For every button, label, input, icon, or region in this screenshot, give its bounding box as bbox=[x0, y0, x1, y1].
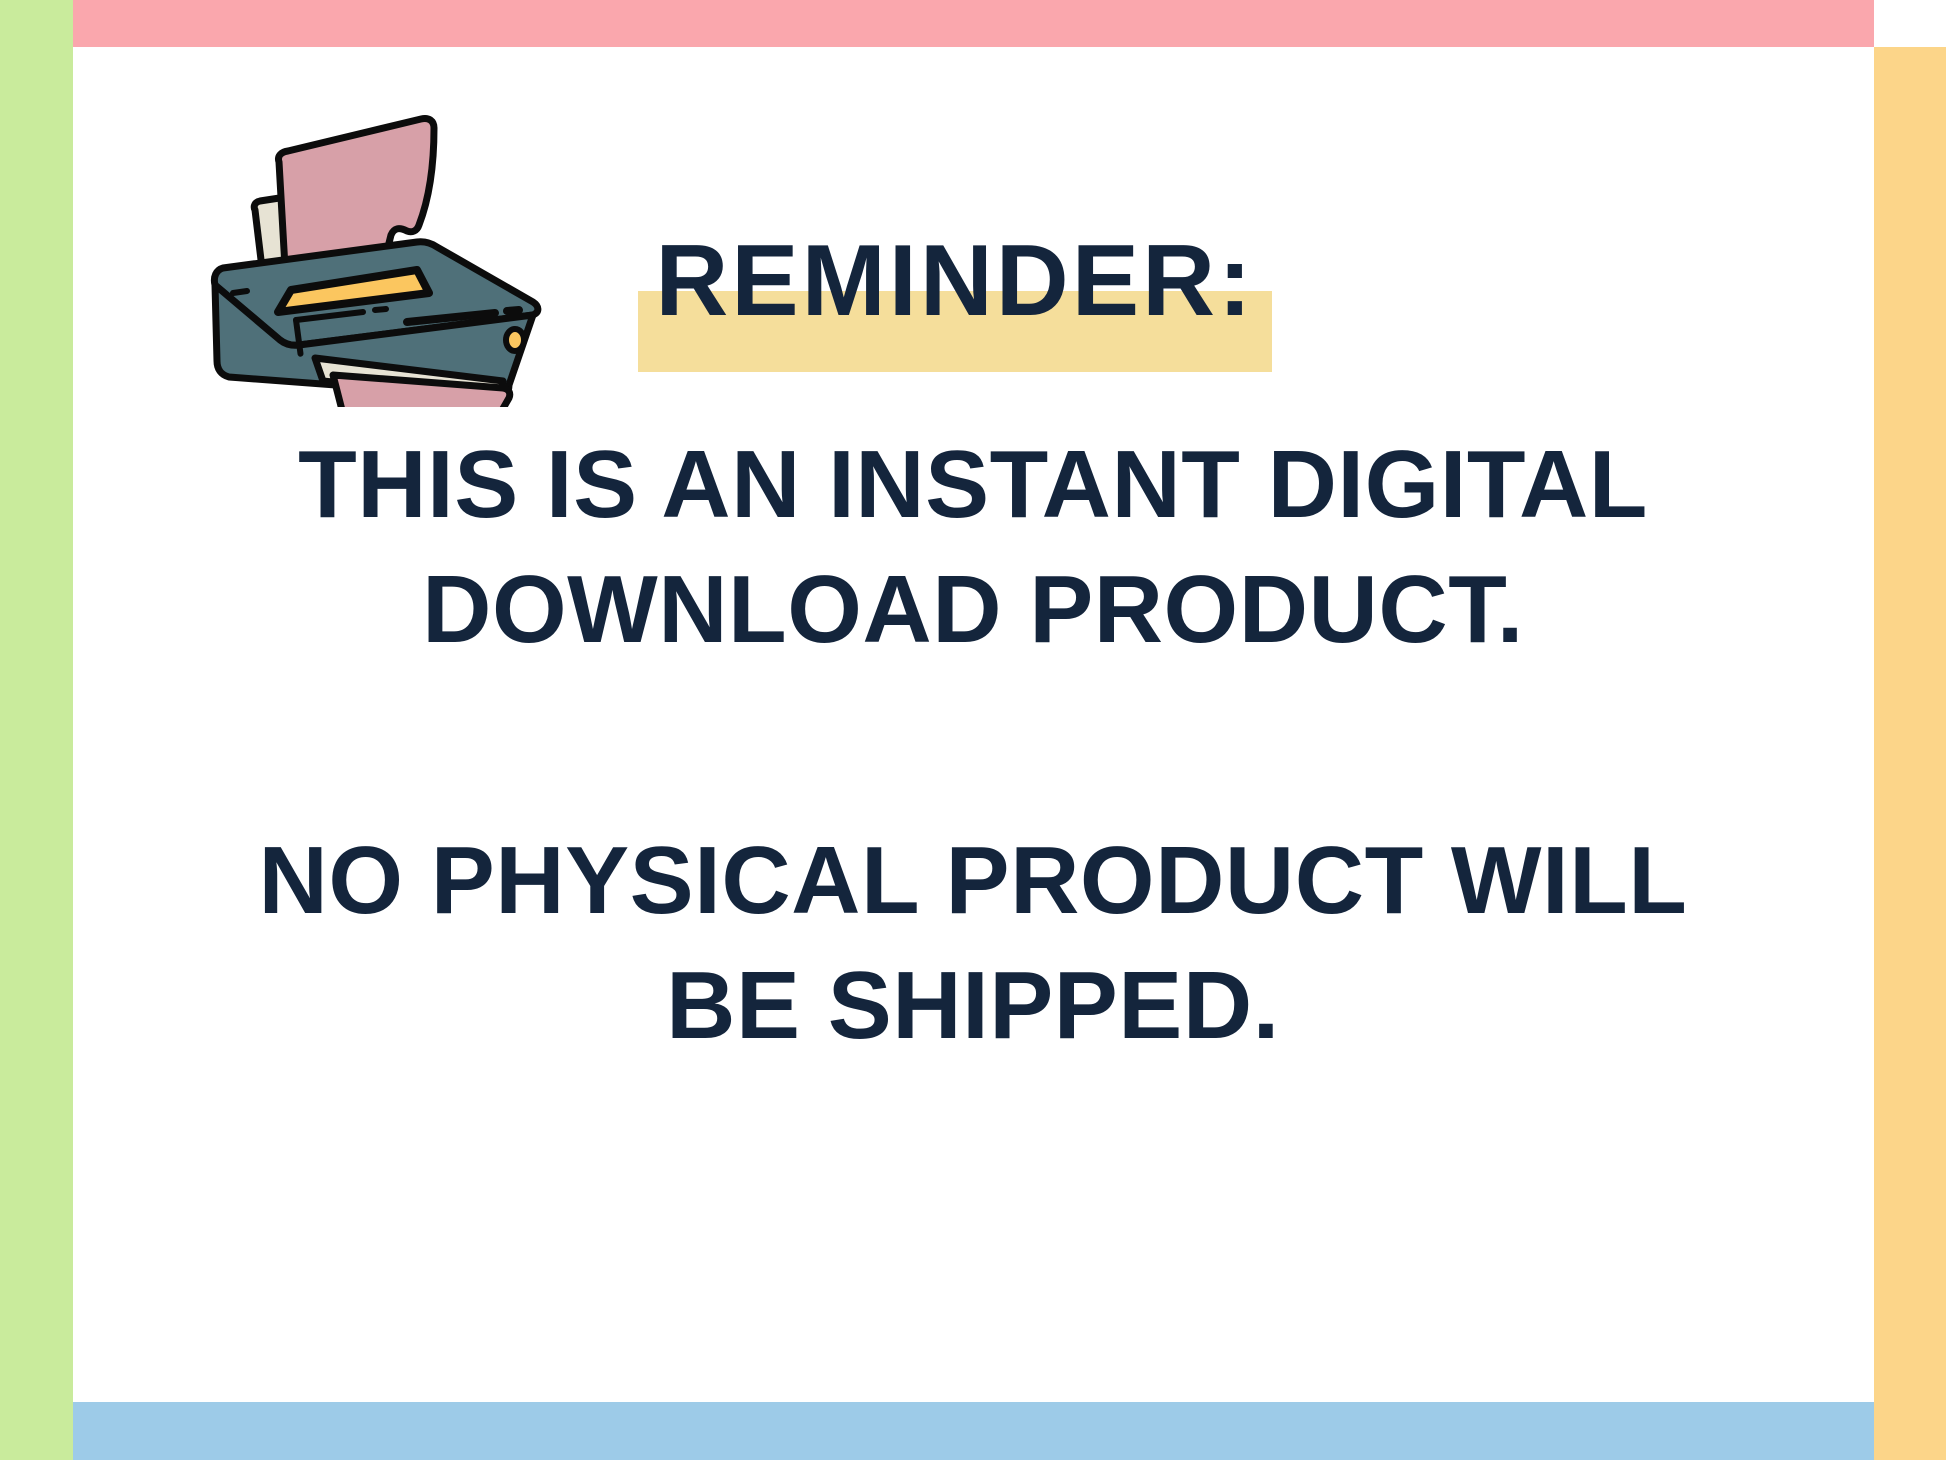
copy-line: THIS IS AN INSTANT DIGITAL bbox=[163, 422, 1783, 547]
border-band-bottom bbox=[73, 1402, 1874, 1460]
copy-paragraph-two: NO PHYSICAL PRODUCT WILL BE SHIPPED. bbox=[163, 818, 1783, 1068]
copy-line: BE SHIPPED. bbox=[163, 943, 1783, 1068]
poster-content: REMINDER: THIS IS AN INSTANT DIGITAL DOW… bbox=[73, 47, 1874, 1402]
copy-paragraph-one: THIS IS AN INSTANT DIGITAL DOWNLOAD PROD… bbox=[163, 422, 1783, 672]
border-band-left bbox=[0, 0, 73, 1460]
border-band-right bbox=[1874, 47, 1946, 1460]
headline-group: REMINDER: bbox=[638, 222, 1288, 372]
border-band-top bbox=[73, 0, 1874, 47]
poster-canvas: REMINDER: THIS IS AN INSTANT DIGITAL DOW… bbox=[0, 0, 1946, 1460]
body-copy: THIS IS AN INSTANT DIGITAL DOWNLOAD PROD… bbox=[163, 422, 1783, 1068]
copy-line: DOWNLOAD PRODUCT. bbox=[163, 547, 1783, 672]
copy-spacer bbox=[163, 672, 1783, 818]
copy-line: NO PHYSICAL PRODUCT WILL bbox=[163, 818, 1783, 943]
headline-reminder: REMINDER: bbox=[638, 222, 1272, 340]
printer-icon bbox=[203, 107, 583, 407]
